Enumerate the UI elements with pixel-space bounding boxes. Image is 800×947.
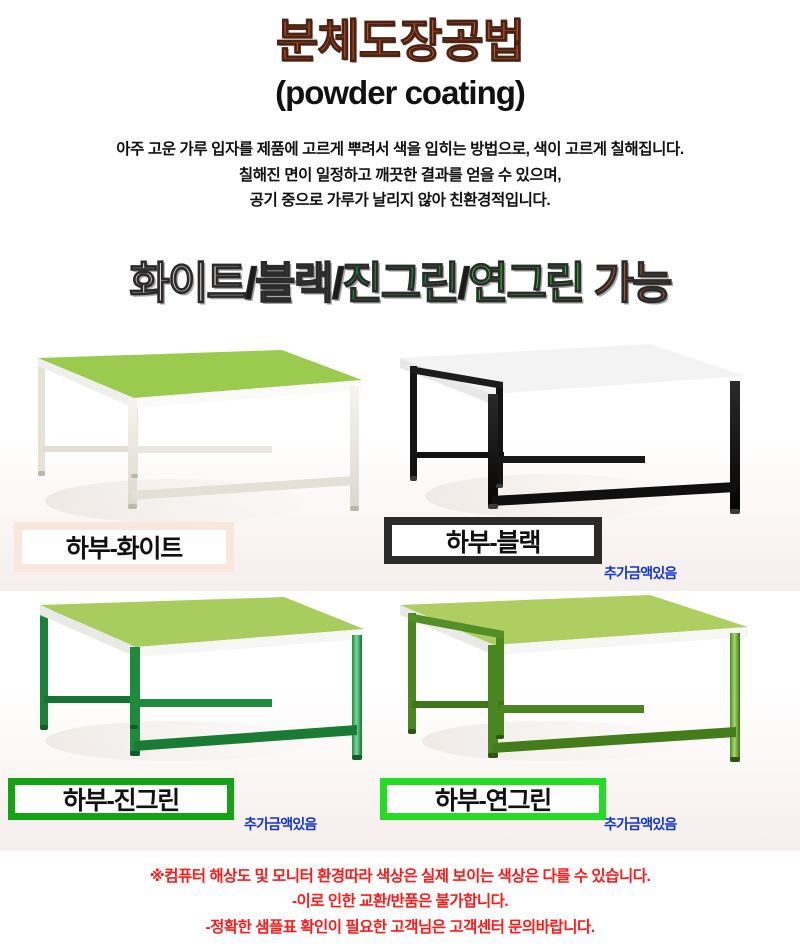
option-label-dark-green: 하부-진그린 [8, 778, 234, 820]
headline-part-dark-green: 진그린 [342, 259, 457, 308]
disclaimer-line-2: -이로 인한 교환/반품은 불가합니다. [0, 889, 800, 914]
option-label-white: 하부-화이트 [14, 522, 234, 572]
extra-charge-note-black: 추가금액있음 [604, 563, 676, 583]
color-options-headline: 화이트/블랙/진그린/연그린 가능 [0, 262, 800, 306]
headline-part-light-green: 연그린 [468, 259, 583, 308]
disclaimer-line-3: -정확한 샘플표 확인이 필요한 고객님은 고객센터 문의바랍니다. [0, 915, 800, 940]
extra-charge-note-light-green: 추가금액있음 [604, 814, 676, 834]
page-subtitle: (powder coating) [0, 74, 800, 112]
description-line-2: 칠해진 면이 일정하고 깨끗한 결과를 얻을 수 있으며, [0, 163, 800, 188]
headline-part-black: 블랙 [255, 259, 332, 308]
page-title: 분체도장공법 [0, 16, 800, 68]
description-line-1: 아주 고운 가루 입자를 제품에 고르게 뿌려서 색을 입히는 방법으로, 색이… [0, 137, 800, 162]
disclaimer-line-1: ※컴퓨터 해상도 및 모니터 환경따라 색상은 실제 보이는 색상은 다를 수 … [0, 864, 800, 889]
extra-charge-note-dark-green: 추가금액있음 [244, 814, 316, 834]
headline-slash-1: / [245, 259, 255, 308]
option-label-black: 하부-블랙 [384, 517, 602, 564]
headline-part-available: 가능 [583, 259, 670, 308]
description-line-3: 공기 중으로 가루가 날리지 않아 친환경적입니다. [0, 188, 800, 213]
headline-slash-2: / [332, 259, 342, 308]
header-section: 분체도장공법 (powder coating) 아주 고운 가루 입자를 제품에… [0, 0, 800, 213]
headline-part-white: 화이트 [129, 259, 244, 308]
disclaimer-block: ※컴퓨터 해상도 및 모니터 환경따라 색상은 실제 보이는 색상은 다를 수 … [0, 864, 800, 940]
description-block: 아주 고운 가루 입자를 제품에 고르게 뿌려서 색을 입히는 방법으로, 색이… [0, 137, 800, 212]
headline-slash-3: / [458, 259, 468, 308]
option-label-light-green: 하부-연그린 [380, 778, 606, 820]
